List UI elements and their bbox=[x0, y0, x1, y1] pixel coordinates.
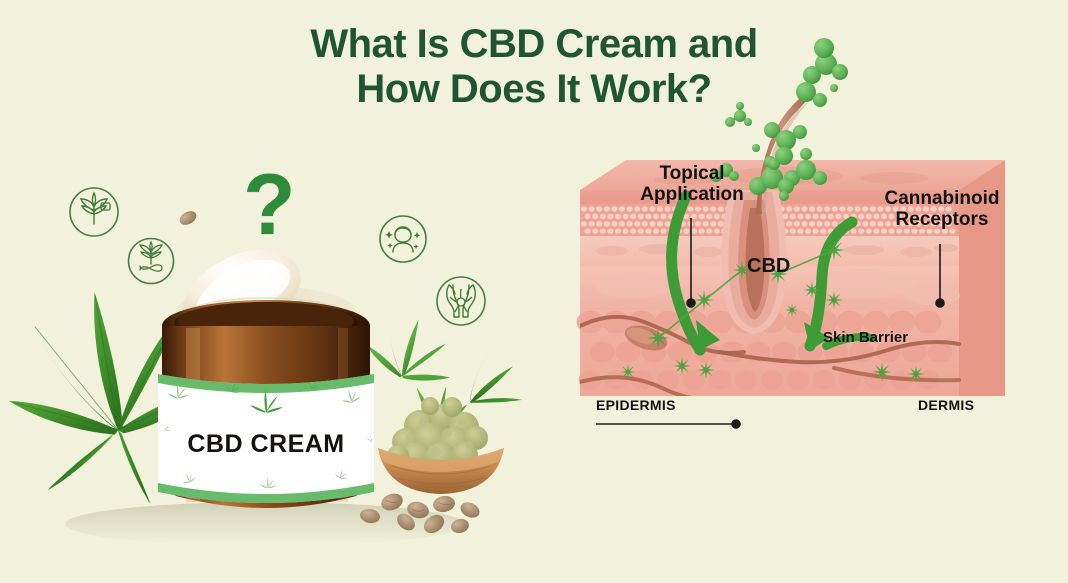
leaf-ribbon-icon bbox=[127, 237, 175, 285]
label-cannabinoid-line1: Cannabinoid bbox=[884, 188, 999, 209]
label-topical-line1: Topical bbox=[659, 163, 724, 184]
jar-label-text: CBD CREAM bbox=[187, 430, 344, 458]
label-cbd: CBD bbox=[747, 255, 790, 277]
infographic-canvas: What Is CBD Cream and How Does It Work? bbox=[0, 0, 1068, 583]
question-mark: ? bbox=[243, 162, 296, 248]
label-cannabinoid-line2: Receptors bbox=[896, 209, 989, 230]
label-topical-line2: Application bbox=[640, 184, 743, 205]
hemp-seed-single bbox=[177, 208, 199, 227]
label-dermis: DERMIS bbox=[918, 398, 974, 414]
glowing-face-icon bbox=[378, 214, 428, 264]
hands-flower-icon bbox=[435, 275, 487, 327]
cbd-cream-jar: CBD CREAM bbox=[158, 250, 374, 509]
leaf-tag-icon bbox=[68, 186, 120, 238]
label-topical-application: Topical Application bbox=[612, 163, 772, 206]
label-skin-barrier: Skin Barrier bbox=[823, 330, 908, 347]
label-epidermis: EPIDERMIS bbox=[596, 398, 676, 414]
jar-label: CBD CREAM bbox=[158, 374, 374, 503]
label-cannabinoid-receptors: Cannabinoid Receptors bbox=[862, 188, 1022, 231]
hemp-bud-bowl bbox=[378, 397, 504, 494]
skin-penetration-diagram bbox=[534, 0, 1068, 583]
